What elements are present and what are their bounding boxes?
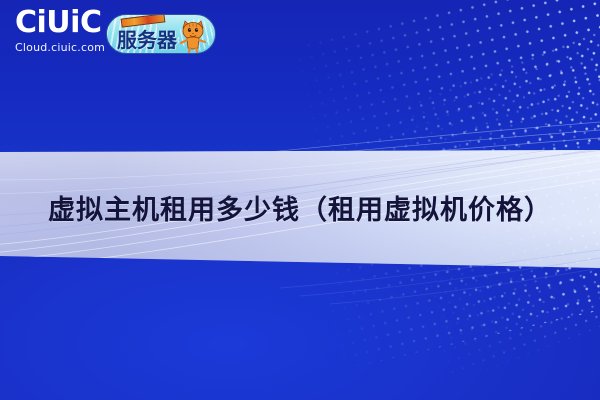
banner-image: 虚拟主机租用多少钱（租用虚拟机价格） CiUiC Cloud.ciuic.com…	[0, 0, 600, 400]
server-badge[interactable]: 服务器	[106, 14, 216, 54]
page-title: 虚拟主机租用多少钱（租用虚拟机价格）	[0, 188, 600, 227]
logo-wordmark: CiUiC	[15, 8, 115, 38]
brand-logo[interactable]: CiUiC Cloud.ciuic.com	[15, 8, 115, 54]
logo-domain: Cloud.ciuic.com	[15, 41, 115, 54]
badge-label: 服务器	[117, 24, 177, 53]
wave-lines-lower	[0, 246, 600, 306]
orange-cat-mascot-icon	[177, 17, 211, 53]
